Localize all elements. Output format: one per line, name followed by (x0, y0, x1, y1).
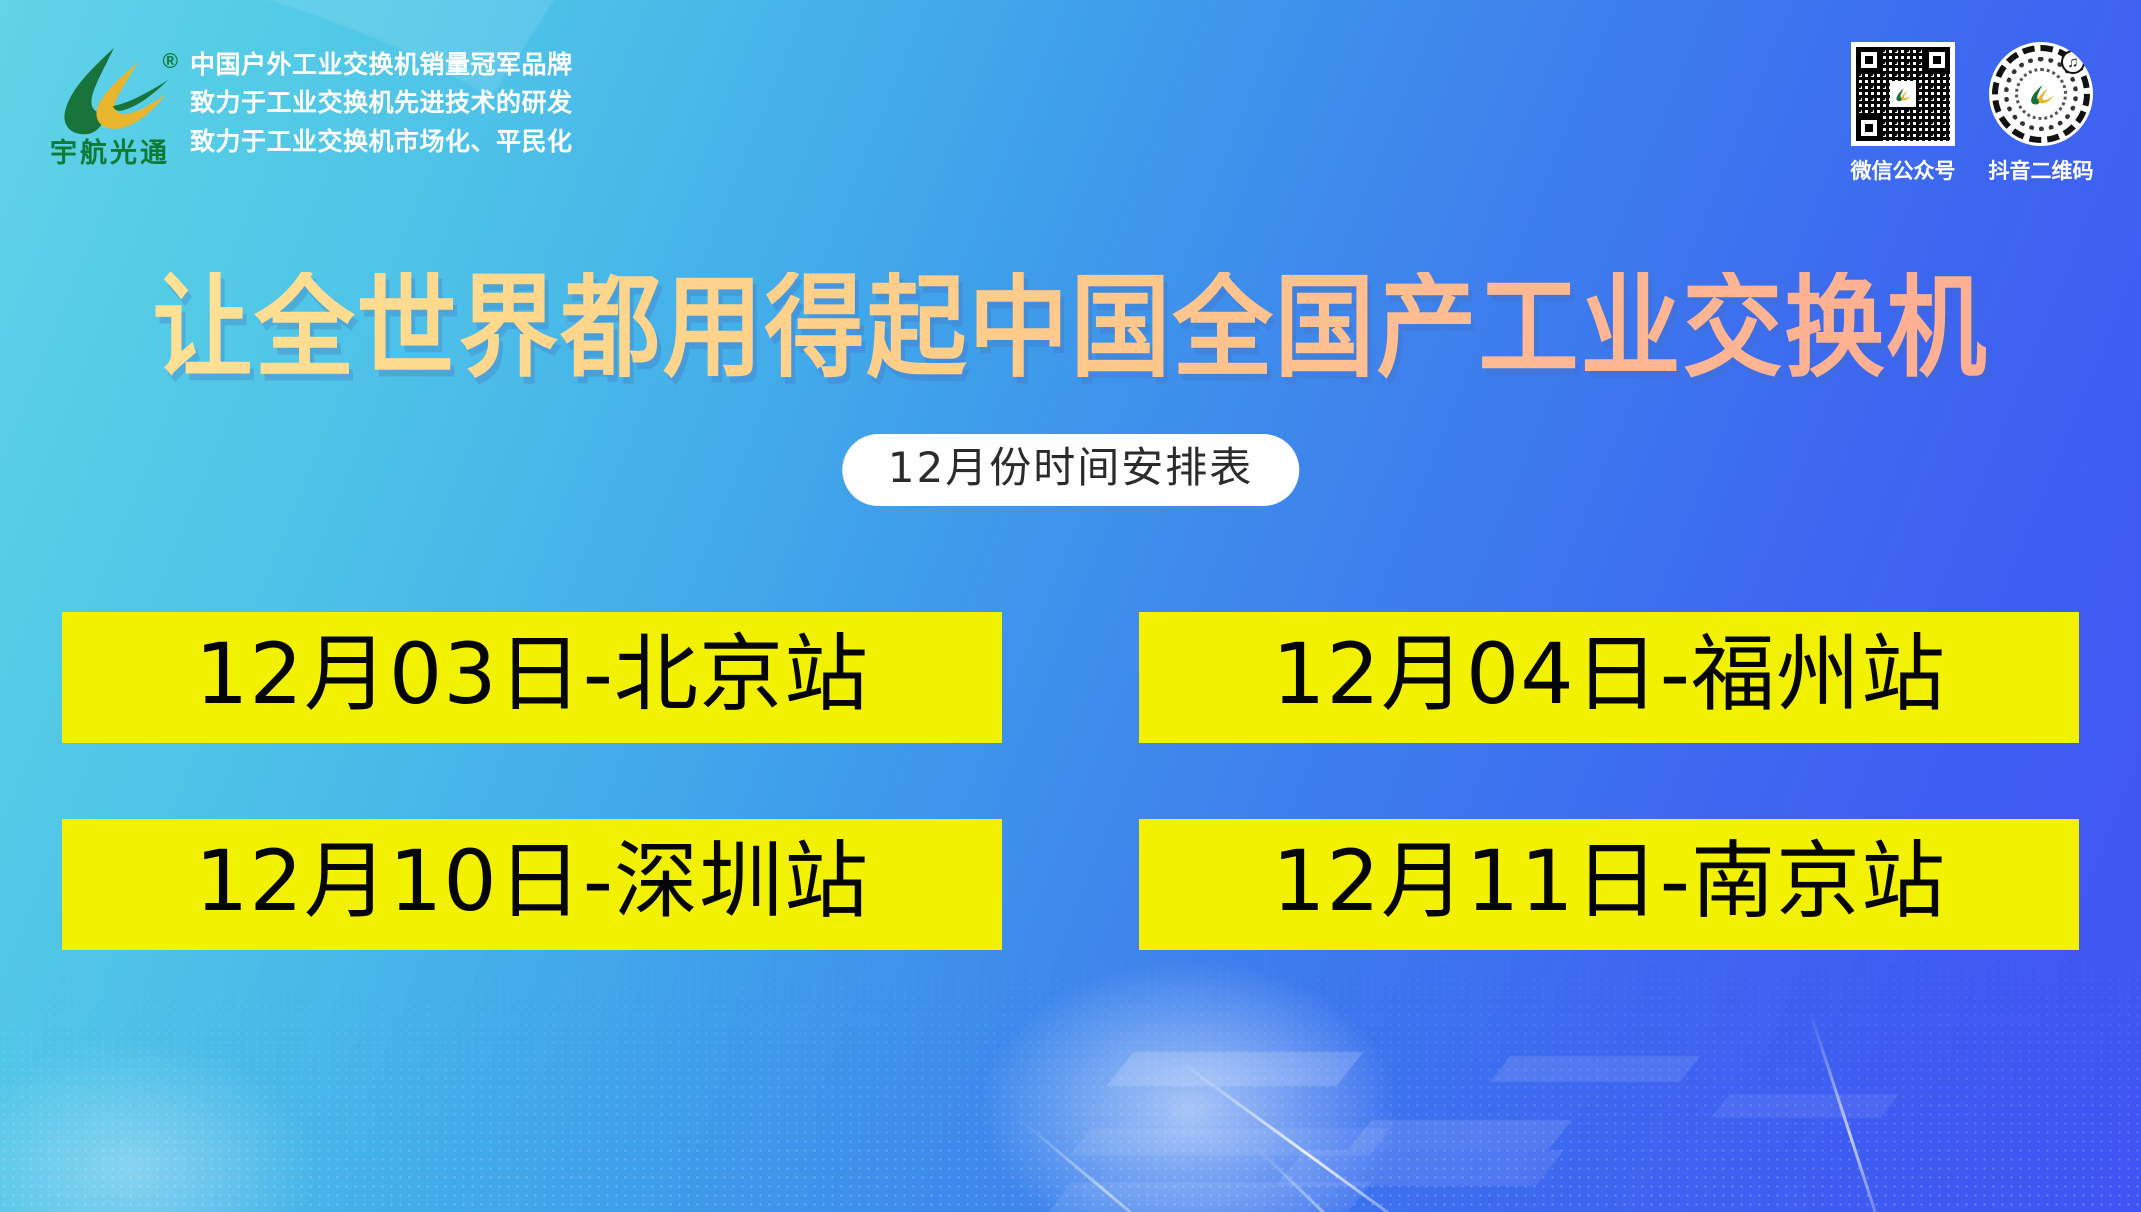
registered-trademark-icon: ® (163, 50, 178, 74)
slogan-line: 致力于工业交换机先进技术的研发 (190, 90, 573, 116)
promo-banner: ® 宇航光通 中国户外工业交换机销量冠军品牌 致力于工业交换机先进技术的研发 致… (0, 0, 2141, 1212)
background-glow (980, 960, 1400, 1212)
background-parallelogram (1348, 1120, 1571, 1150)
schedule-item[interactable]: 12月11日-南京站 (1139, 819, 2079, 950)
brand-block: ® 宇航光通 中国户外工业交换机销量冠军品牌 致力于工业交换机先进技术的研发 致… (42, 40, 573, 168)
page-title: 让全世界都用得起中国全国产工业交换机 (0, 272, 2141, 384)
douyin-qr-code-icon[interactable]: ♫ (1989, 42, 2093, 146)
background-streak (1809, 1011, 1892, 1212)
schedule-item[interactable]: 12月03日-北京站 (62, 612, 1002, 743)
background-dot-grid (0, 912, 2141, 1212)
background-streak (1179, 1060, 1440, 1212)
leaf-swoosh-icon (42, 40, 174, 140)
music-note-icon: ♫ (2061, 50, 2085, 74)
background-streak (1249, 1140, 1438, 1212)
qr-code-block: 微信公众号 ♫ 抖音二维码 (1847, 42, 2097, 185)
qr-item-wechat[interactable]: 微信公众号 (1847, 42, 1959, 185)
schedule-item[interactable]: 12月10日-深圳站 (62, 819, 1002, 950)
slogan-line: 致力于工业交换机市场化、平民化 (190, 129, 573, 155)
background-parallelogram (1711, 1094, 1900, 1118)
schedule-subtitle-badge: 12月份时间安排表 (842, 434, 1299, 506)
qr-caption: 抖音二维码 (1989, 155, 2094, 185)
qr-item-douyin[interactable]: ♫ 抖音二维码 (1985, 42, 2097, 185)
company-name: 宇航光通 (44, 131, 176, 170)
wechat-qr-code-icon[interactable] (1851, 42, 1955, 146)
slogan-line: 中国户外工业交换机销量冠军品牌 (190, 52, 573, 78)
background-parallelogram (1490, 1056, 1700, 1082)
qr-embedded-logo (2021, 74, 2061, 114)
background-parallelogram (1048, 1182, 1371, 1212)
qr-embedded-logo (1890, 81, 1916, 107)
slogan-list: 中国户外工业交换机销量冠军品牌 致力于工业交换机先进技术的研发 致力于工业交换机… (190, 40, 573, 155)
company-logo: ® 宇航光通 (42, 40, 174, 168)
qr-caption: 微信公众号 (1851, 155, 1956, 185)
schedule-grid: 12月03日-北京站 12月04日-福州站 12月10日-深圳站 12月11日-… (0, 612, 2141, 950)
schedule-cell: 12月10日-深圳站 (62, 819, 1071, 950)
schedule-cell: 12月03日-北京站 (62, 612, 1071, 743)
background-streak (1019, 1118, 1189, 1212)
background-parallelogram (1107, 1052, 1364, 1086)
schedule-item[interactable]: 12月04日-福州站 (1139, 612, 2079, 743)
schedule-cell: 12月04日-福州站 (1071, 612, 2080, 743)
background-parallelogram (1069, 1128, 1391, 1156)
background-glow (0, 1040, 320, 1212)
banner-header: ® 宇航光通 中国户外工业交换机销量冠军品牌 致力于工业交换机先进技术的研发 致… (0, 0, 2141, 210)
background-parallelogram (1276, 1150, 1564, 1186)
schedule-cell: 12月11日-南京站 (1071, 819, 2080, 950)
